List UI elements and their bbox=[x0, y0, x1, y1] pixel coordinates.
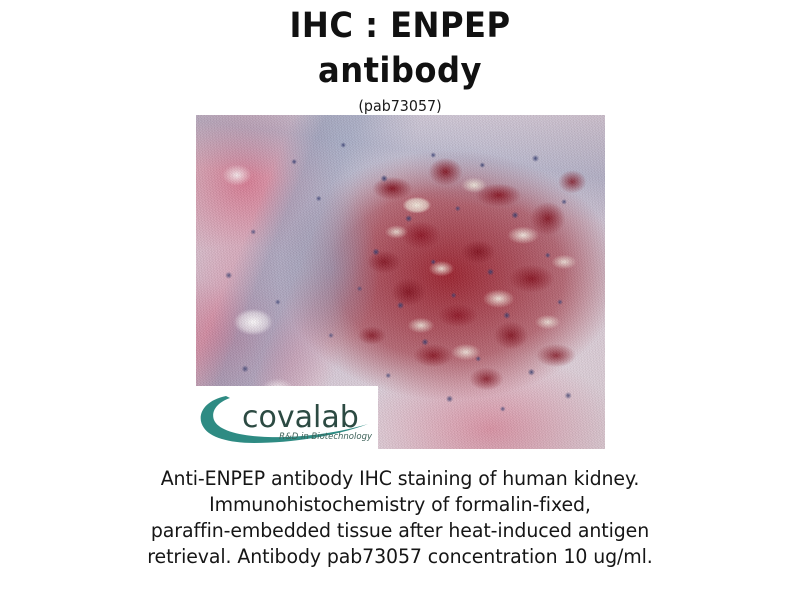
caption-line-4: retrieval. Antibody pab73057 concentrati… bbox=[90, 544, 711, 570]
logo-tagline: R&D in Biotechnology bbox=[279, 432, 373, 442]
caption-line-3: paraffin-embedded tissue after heat-indu… bbox=[90, 518, 711, 544]
title-block: IHC : ENPEP antibody (pab73057) bbox=[0, 0, 800, 116]
caption-line-2: Immunohistochemistry of formalin-fixed, bbox=[90, 492, 711, 518]
catalog-number: (pab73057) bbox=[20, 94, 780, 116]
page-title-line-2: antibody bbox=[32, 49, 768, 94]
caption-block: Anti-ENPEP antibody IHC staining of huma… bbox=[90, 466, 711, 570]
caption-line-1: Anti-ENPEP antibody IHC staining of huma… bbox=[90, 466, 711, 492]
product-image-card: IHC : ENPEP antibody (pab73057) covalab … bbox=[0, 0, 800, 600]
logo-wordmark: covalab bbox=[242, 400, 359, 435]
covalab-logo: covalab R&D in Biotechnology bbox=[196, 386, 378, 449]
covalab-logo-svg: covalab R&D in Biotechnology bbox=[196, 386, 378, 449]
page-title-line-1: IHC : ENPEP bbox=[32, 0, 768, 49]
